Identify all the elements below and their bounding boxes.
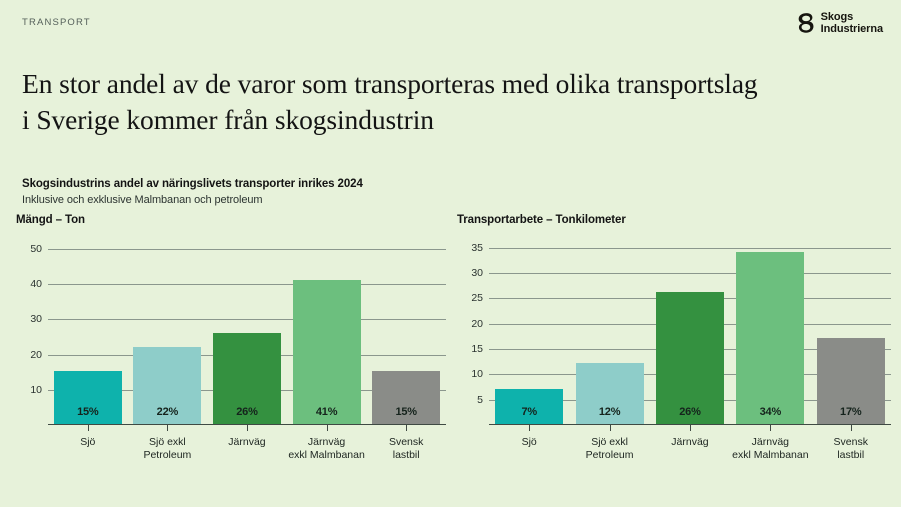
x-axis-category: Svensk lastbil [812, 425, 890, 463]
bar[interactable]: 26% [656, 292, 724, 424]
bar[interactable]: 15% [372, 371, 440, 424]
x-axis-tickmark [610, 425, 611, 431]
page-title: En stor andel av de varor som transporte… [22, 66, 762, 138]
y-axis-tick-label: 40 [30, 278, 42, 290]
x-axis-category-label: Järnväg exkl Malmbanan [288, 436, 366, 463]
x-axis-tickmark [529, 425, 530, 431]
x-axis-category-label: Sjö [49, 436, 127, 449]
bar-value-label: 41% [316, 406, 337, 418]
y-axis-tick-label: 25 [471, 292, 483, 304]
x-axis-category-label: Sjö [490, 436, 568, 449]
bar-value-label: 7% [521, 406, 537, 418]
x-axis-category-label: Svensk lastbil [367, 436, 445, 463]
y-axis-tick-label: 30 [471, 267, 483, 279]
x-axis-category-label: Järnväg [208, 436, 286, 449]
x-axis-category: Sjö [49, 425, 127, 463]
y-axis-tick-label: 30 [30, 313, 42, 325]
y-axis: 1020304050 [14, 235, 48, 425]
x-axis-category: Järnväg [208, 425, 286, 463]
bar[interactable]: 41% [293, 280, 361, 424]
skogsindustrierna-logo-icon [795, 12, 816, 35]
x-axis-category-label: Järnväg exkl Malmbanan [731, 436, 809, 463]
brand-logo: Skogs Industrierna [795, 12, 883, 35]
y-axis-tick-label: 10 [30, 384, 42, 396]
chart-panel-mangd-ton: Mängd – Ton102030405015%22%26%41%15%SjöS… [14, 214, 446, 425]
x-axis-tickmark [167, 425, 168, 431]
section-subtitle: Inklusive och exklusive Malmbanan och pe… [22, 194, 262, 206]
x-axis-category: Järnväg [651, 425, 729, 463]
eyebrow-label: TRANSPORT [22, 17, 91, 28]
x-axis-category-label: Järnväg [651, 436, 729, 449]
x-axis: SjöSjö exkl PetroleumJärnvägJärnväg exkl… [48, 425, 446, 463]
bar[interactable]: 26% [213, 333, 281, 424]
bar[interactable]: 7% [495, 389, 563, 424]
x-axis-tickmark [770, 425, 771, 431]
bar-group: 7%12%26%34%17% [489, 235, 891, 424]
x-axis-category: Järnväg exkl Malmbanan [731, 425, 809, 463]
bar[interactable]: 17% [817, 338, 885, 424]
x-axis-category: Sjö [490, 425, 568, 463]
chart-panel-transportarbete: Transportarbete – Tonkilometer5101520253… [455, 214, 891, 425]
x-axis-category-label: Sjö exkl Petroleum [128, 436, 206, 463]
bar[interactable]: 15% [54, 371, 122, 424]
bar-value-label: 12% [599, 406, 620, 418]
bar-value-label: 26% [236, 406, 257, 418]
bar-value-label: 15% [77, 406, 98, 418]
y-axis-tick-label: 50 [30, 243, 42, 255]
x-axis-category-label: Sjö exkl Petroleum [571, 436, 649, 463]
chart-title: Mängd – Ton [16, 214, 446, 226]
x-axis-tickmark [88, 425, 89, 431]
chart-title: Transportarbete – Tonkilometer [457, 214, 891, 226]
bar-value-label: 15% [395, 406, 416, 418]
plot-canvas: 15%22%26%41%15% [48, 235, 446, 425]
bar-value-label: 26% [679, 406, 700, 418]
x-axis: SjöSjö exkl PetroleumJärnvägJärnväg exkl… [489, 425, 891, 463]
y-axis-tick-label: 20 [471, 318, 483, 330]
y-axis-tick-label: 10 [471, 368, 483, 380]
x-axis-tickmark [327, 425, 328, 431]
x-axis-category: Svensk lastbil [367, 425, 445, 463]
logo-line-2: Industrierna [821, 24, 883, 35]
x-axis-category-label: Svensk lastbil [812, 436, 890, 463]
x-axis-category: Sjö exkl Petroleum [128, 425, 206, 463]
plot-area: 102030405015%22%26%41%15%SjöSjö exkl Pet… [14, 235, 446, 425]
y-axis-tick-label: 5 [477, 394, 483, 406]
bar-value-label: 22% [157, 406, 178, 418]
bar-value-label: 34% [760, 406, 781, 418]
bar[interactable]: 22% [133, 347, 201, 424]
logo-wordmark: Skogs Industrierna [821, 12, 883, 35]
x-axis-tickmark [247, 425, 248, 431]
y-axis: 5101520253035 [455, 235, 489, 425]
bar[interactable]: 12% [576, 363, 644, 424]
plot-area: 51015202530357%12%26%34%17%SjöSjö exkl P… [455, 235, 891, 425]
logo-line-1: Skogs [821, 12, 883, 23]
bar-group: 15%22%26%41%15% [48, 235, 446, 424]
section-title: Skogsindustrins andel av näringslivets t… [22, 178, 363, 190]
x-axis-tickmark [690, 425, 691, 431]
y-axis-tick-label: 15 [471, 343, 483, 355]
y-axis-tick-label: 20 [30, 349, 42, 361]
x-axis-category: Sjö exkl Petroleum [571, 425, 649, 463]
x-axis-category: Järnväg exkl Malmbanan [288, 425, 366, 463]
x-axis-tickmark [851, 425, 852, 431]
x-axis-tickmark [406, 425, 407, 431]
y-axis-tick-label: 35 [471, 242, 483, 254]
bar[interactable]: 34% [736, 252, 804, 424]
bar-value-label: 17% [840, 406, 861, 418]
plot-canvas: 7%12%26%34%17% [489, 235, 891, 425]
